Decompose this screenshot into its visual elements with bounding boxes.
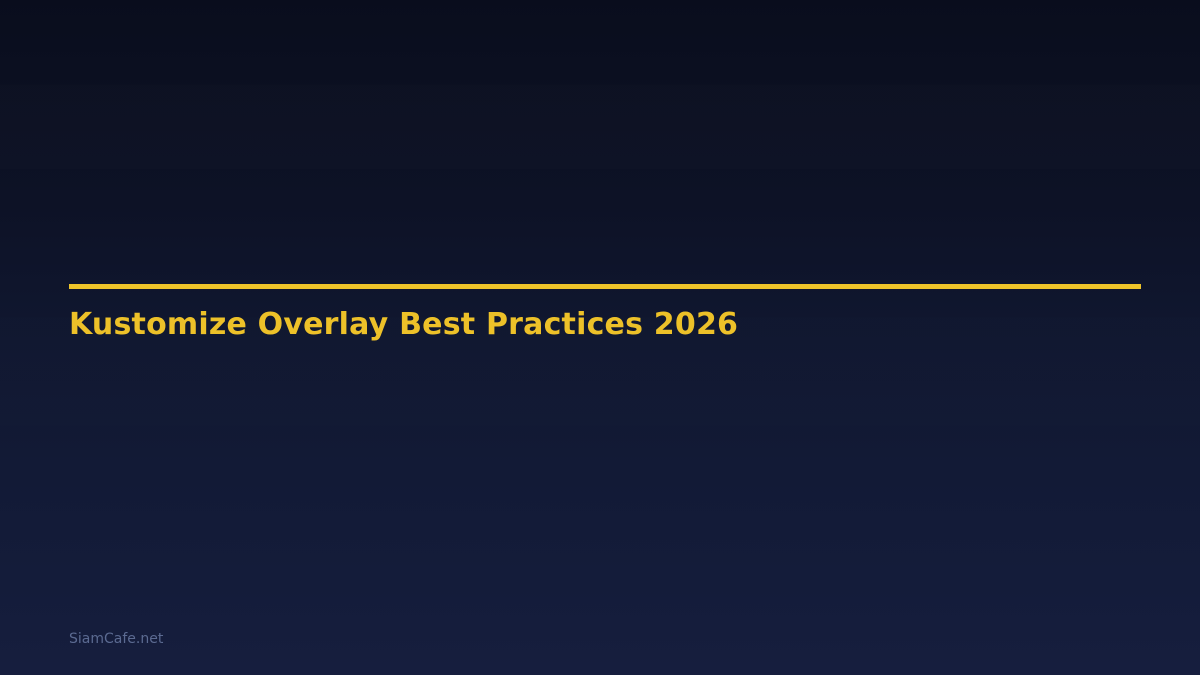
title-slide: Kustomize Overlay Best Practices 2026 Si…: [0, 0, 1200, 675]
page-title: Kustomize Overlay Best Practices 2026: [69, 308, 738, 342]
accent-rule-divider: [69, 284, 1141, 289]
footer-branding: SiamCafe.net: [69, 630, 163, 649]
title-block: Kustomize Overlay Best Practices 2026: [69, 284, 1141, 289]
